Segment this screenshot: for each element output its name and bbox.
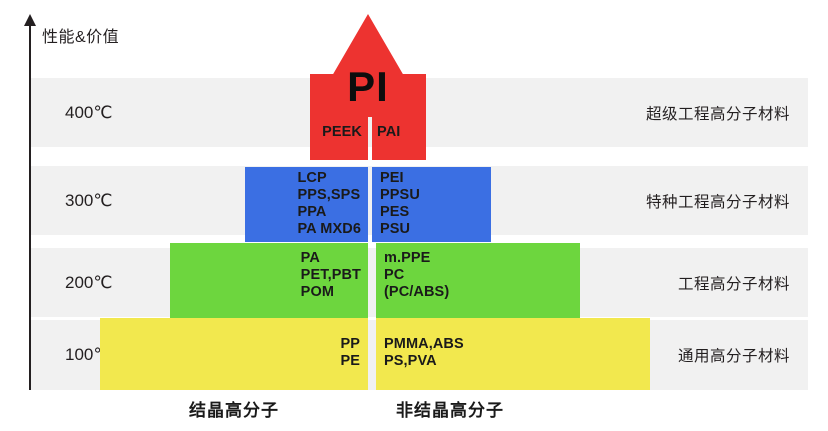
column-caption-crystalline: 结晶高分子 xyxy=(189,396,279,421)
category-label-super-engineering: 超级工程高分子材料 xyxy=(646,102,790,124)
material-list-left: LCPPPS,SPSPPAPA MXD6 xyxy=(297,170,361,238)
pyramid-tier-super-engineering: PI PEEK PAI xyxy=(310,14,426,160)
tier-yellow-crystalline: PPPE xyxy=(100,318,368,390)
pyramid-tier-engineering: PAPET,PBTPOM m.PPEPC(PC/ABS) xyxy=(170,243,580,318)
material-pi-label: PI xyxy=(310,64,426,110)
material-list-left: PPPE xyxy=(340,336,360,370)
material-list-right: PEIPPSUPESPSU xyxy=(380,170,420,238)
temperature-label-200: 200℃ xyxy=(65,273,112,293)
material-list-right: PAI xyxy=(377,124,400,141)
column-caption-amorphous: 非结晶高分子 xyxy=(396,396,504,421)
tier-blue-amorphous: PEIPPSUPESPSU xyxy=(372,167,491,242)
material-list-left: PEEK xyxy=(322,124,362,141)
tier-green-crystalline: PAPET,PBTPOM xyxy=(170,243,368,318)
tier-green-amorphous: m.PPEPC(PC/ABS) xyxy=(376,243,580,318)
category-label-commodity: 通用高分子材料 xyxy=(678,344,790,366)
category-label-engineering: 工程高分子材料 xyxy=(678,272,790,294)
material-list-right: m.PPEPC(PC/ABS) xyxy=(384,250,449,301)
temperature-label-400: 400℃ xyxy=(65,103,112,123)
pyramid-tier-special-engineering: LCPPPS,SPSPPAPA MXD6 PEIPPSUPESPSU xyxy=(245,167,491,242)
material-list-right: PMMA,ABSPS,PVA xyxy=(384,336,464,370)
tier-blue-crystalline: LCPPPS,SPSPPAPA MXD6 xyxy=(245,167,368,242)
temperature-label-300: 300℃ xyxy=(65,191,112,211)
category-label-special-engineering: 特种工程高分子材料 xyxy=(646,190,790,212)
pyramid-tier-commodity: PPPE PMMA,ABSPS,PVA xyxy=(100,318,650,390)
material-list-left: PAPET,PBTPOM xyxy=(301,250,361,301)
axis-title: 性能&价值 xyxy=(42,23,119,47)
tier-yellow-amorphous: PMMA,ABSPS,PVA xyxy=(376,318,650,390)
